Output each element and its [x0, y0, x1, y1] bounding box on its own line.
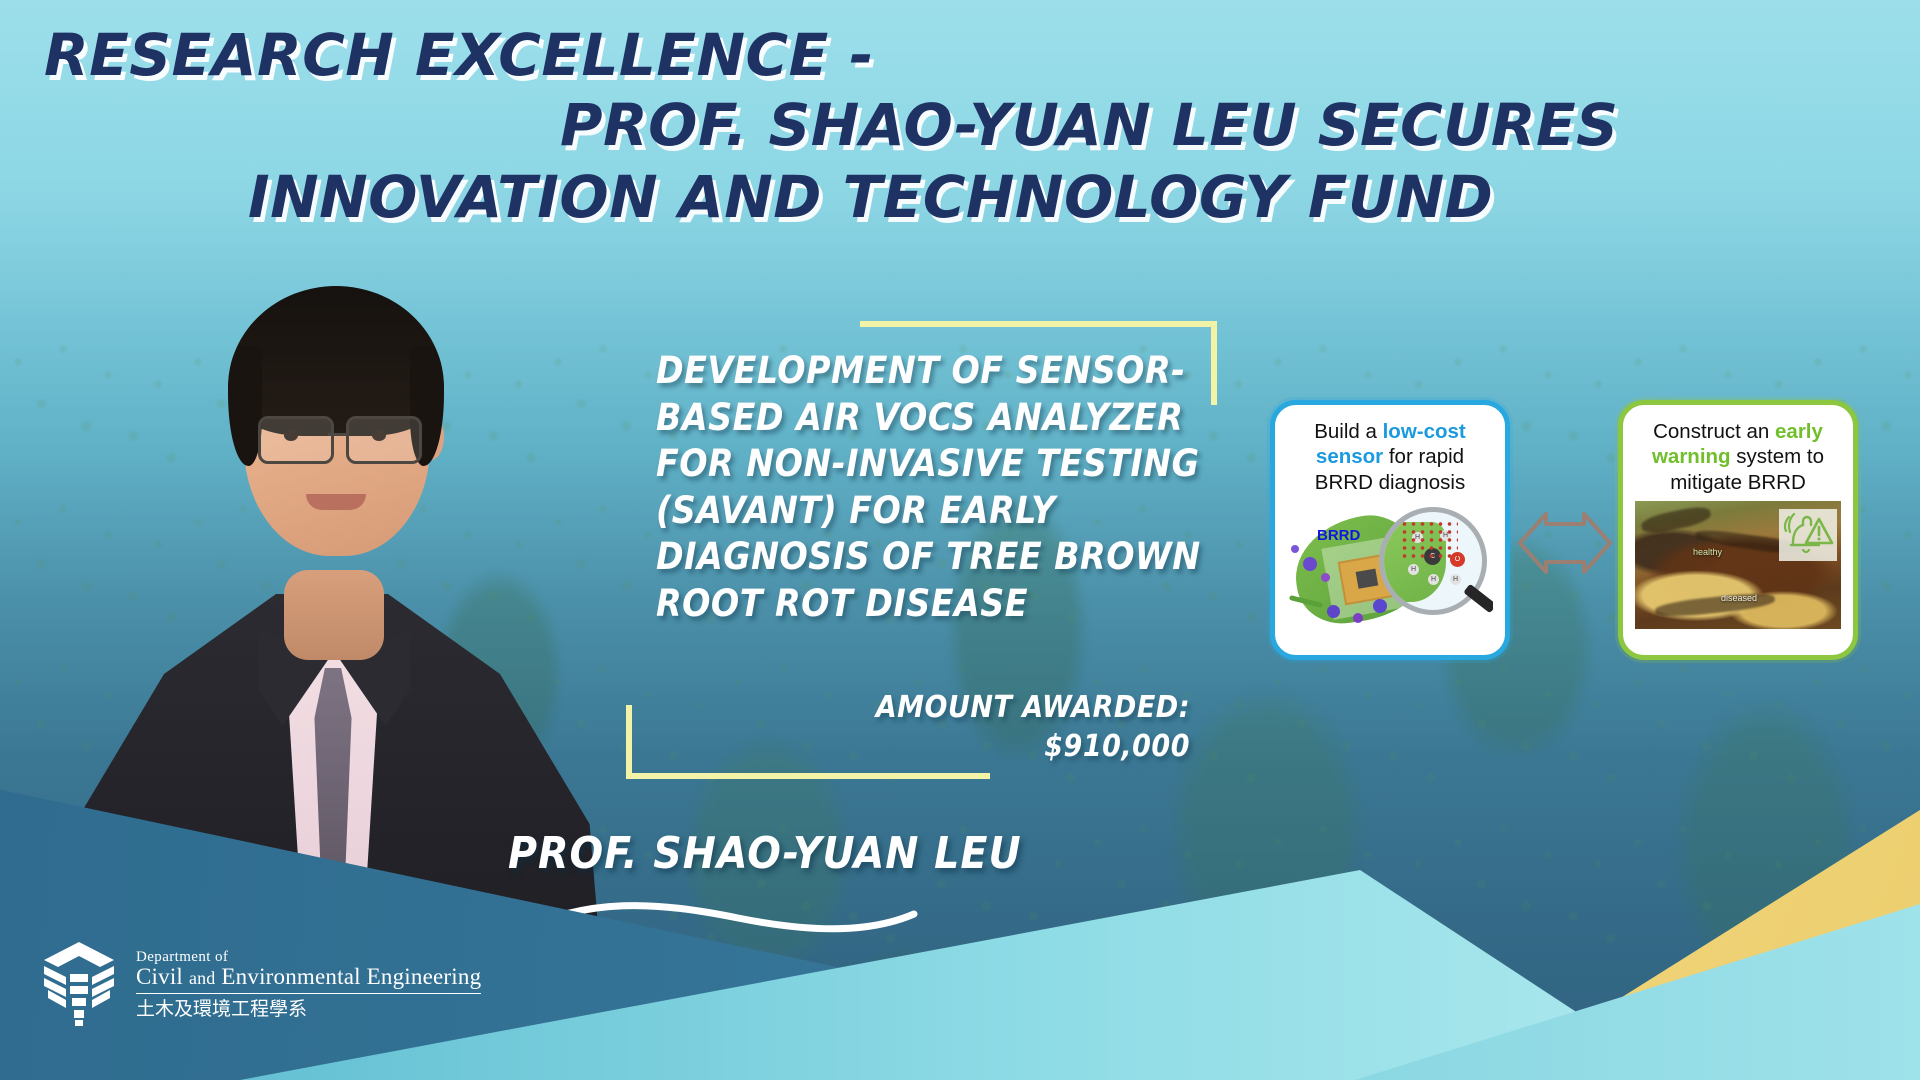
dept-line-2: Civil and Environmental Engineering	[136, 965, 481, 994]
headline-line-2: PROF. SHAO-YUAN LEU SECURES	[560, 96, 1618, 154]
project-title: DEVELOPMENT OF SENSOR-BASED AIR VOCS ANA…	[656, 348, 1216, 628]
pathogen-dot-5	[1353, 613, 1363, 623]
card-left-text: Build a low-cost sensor for rapid BRRD d…	[1275, 405, 1505, 495]
card-left-text-before: Build a	[1314, 420, 1382, 443]
bracket-bottom-horizontal	[626, 773, 990, 779]
label-diseased: diseased	[1721, 593, 1757, 603]
card-early-warning[interactable]: Construct an early warning system to mit…	[1618, 400, 1858, 660]
portrait-glasses-left	[258, 416, 334, 464]
dept-line-1: Department of	[136, 949, 481, 965]
bidirectional-arrow-icon	[1516, 500, 1614, 586]
sensor-chip-core	[1356, 569, 1379, 589]
portrait-mouth	[306, 494, 366, 510]
headline-line-1: RESEARCH EXCELLENCE -	[44, 26, 874, 84]
department-logo-text: Department of Civil and Environmental En…	[136, 949, 481, 1020]
award-amount-label: AMOUNT AWARDED:	[700, 688, 1190, 727]
card-right-text-before: Construct an	[1653, 420, 1775, 443]
department-logo: Department of Civil and Environmental En…	[40, 940, 481, 1028]
pathogen-dot-1	[1291, 545, 1299, 553]
ceee-building-logo-icon	[40, 940, 118, 1028]
card-right-text: Construct an early warning system to mit…	[1623, 405, 1853, 495]
portrait-glasses-bridge	[328, 433, 346, 436]
portrait-neck	[284, 570, 384, 660]
card-right-photo: healthy diseased	[1635, 501, 1841, 629]
bracket-bottom-vertical	[626, 705, 632, 779]
headline-line-3: INNOVATION AND TECHNOLOGY FUND	[248, 168, 1493, 226]
dept-civil: Civil	[136, 964, 183, 989]
dept-and: and	[189, 968, 216, 988]
poster-canvas: RESEARCH EXCELLENCE - PROF. SHAO-YUAN LE…	[0, 0, 1920, 1080]
bracket-top-horizontal	[860, 321, 1217, 327]
presenter-name: PROF. SHAO-YUAN LEU	[508, 828, 1022, 879]
atom-h-5: H	[1450, 574, 1461, 585]
voc-particles	[1400, 520, 1458, 558]
portrait-glasses-right	[346, 416, 422, 464]
portrait-hair-side-left	[228, 346, 262, 466]
wood-streak-3	[1654, 591, 1775, 619]
dept-chinese-name: 土木及環境工程學系	[136, 999, 481, 1020]
award-amount-block: AMOUNT AWARDED: $910,000	[700, 688, 1190, 766]
label-healthy: healthy	[1693, 547, 1722, 557]
alarm-warning-icon	[1779, 509, 1837, 561]
card-left-illustration: BRRD C O H H H H H	[1287, 501, 1493, 629]
brrd-label: BRRD	[1317, 527, 1360, 544]
card-low-cost-sensor[interactable]: Build a low-cost sensor for rapid BRRD d…	[1270, 400, 1510, 660]
alarm-icon-box	[1779, 509, 1837, 561]
award-amount-value: $910,000	[700, 727, 1190, 766]
dept-environmental: Environmental Engineering	[221, 964, 481, 989]
